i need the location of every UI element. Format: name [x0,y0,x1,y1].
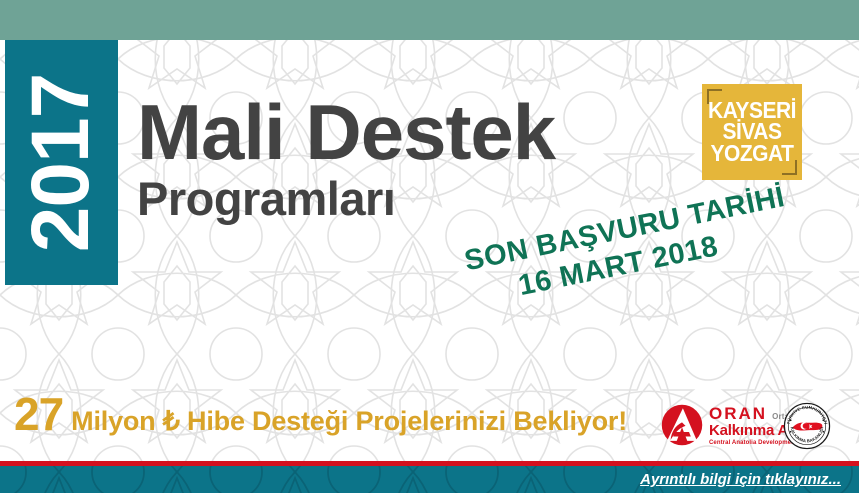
details-link[interactable]: Ayrıntılı bilgi için tıklayınız... [640,466,841,493]
oran-name: ORAN [709,405,767,422]
grant-tagline-text: Milyon ₺ Hibe Desteği Projelerinizi Bekl… [71,408,627,435]
headline-main: Mali Destek [137,95,555,170]
grant-tagline: 27 Milyon ₺ Hibe Desteği Projelerinizi B… [14,391,627,437]
ministry-seal-icon: TÜRKİYE CUMHURİYETİ KALKINMA BAKANLIĞI [783,402,831,450]
bottom-bar: Ayrıntılı bilgi için tıklayınız... [0,466,859,493]
year-label: 2017 [21,73,103,251]
region-badge-line-3: YOZGAT [711,141,794,165]
headline: Mali Destek Programları [137,95,555,223]
grant-amount: 27 [14,391,63,437]
promo-banner: 2017 Mali Destek Programları KAYSERİ SİV… [0,0,859,493]
region-badge: KAYSERİ SİVAS YOZGAT [702,84,802,180]
year-block: 2017 [5,40,118,285]
top-color-band [0,0,859,40]
headline-sub: Programları [137,174,555,223]
oran-a-circle-icon [660,403,704,447]
